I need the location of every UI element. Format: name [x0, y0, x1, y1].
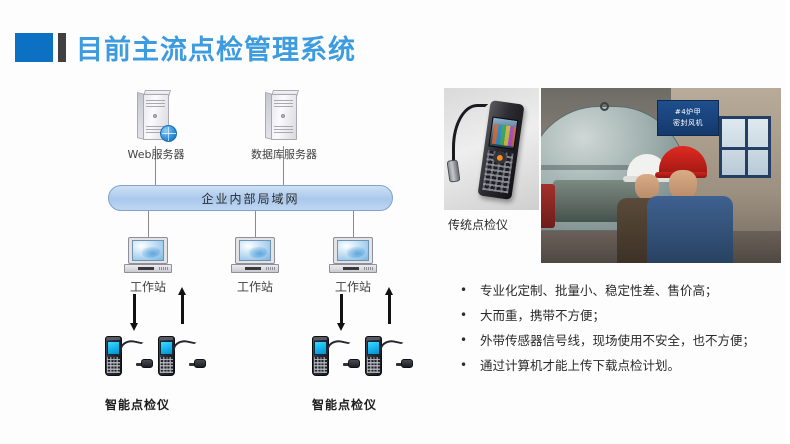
sensor-probe-1 [120, 340, 154, 370]
site-sign-line-1: #4炉甲 [675, 107, 701, 118]
bullet-item-1: 专业化定制、批量小、稳定性差、售价高； [452, 283, 782, 299]
site-red-equipment [541, 184, 555, 228]
slide-title-bar: 目前主流点检管理系统 [0, 30, 790, 72]
arrow-download-left [133, 294, 136, 324]
workstation-icon-3 [329, 237, 377, 273]
title-tick-bar [58, 33, 66, 62]
workstation-label-1: 工作站 [118, 278, 178, 295]
lan-label: 企业内部局域网 [201, 190, 299, 207]
sensor-probe-3 [327, 340, 361, 370]
arrow-download-right [340, 294, 343, 324]
bullet-item-2: 大而重，携带不方便； [452, 308, 782, 324]
site-sign-line-2: 密封风机 [673, 118, 703, 129]
lan-bar: 企业内部局域网 [108, 185, 393, 211]
web-server-label: Web服务器 [110, 146, 202, 162]
database-server-label: 数据库服务器 [228, 146, 340, 162]
page-title: 目前主流点检管理系统 [76, 28, 356, 67]
bullet-item-3: 外带传感器信号线，现场使用不安全，也不方便； [452, 333, 782, 349]
inspection-site-photo: #4炉甲 密封风机 [541, 88, 781, 263]
legacy-device-photo [444, 88, 539, 210]
database-server-icon [265, 90, 301, 142]
arrow-upload-left [181, 294, 184, 324]
architecture-diagram: Web服务器 数据库服务器 企业内部局域网 工作站 [0, 78, 440, 418]
workstation-label-2: 工作站 [225, 278, 285, 295]
workstation-label-3: 工作站 [323, 278, 383, 295]
bullet-item-4: 通过计算机才能上传下载点检计划。 [452, 358, 782, 374]
connector-lan-ws2 [255, 211, 256, 239]
workstation-icon-2 [231, 237, 279, 273]
smart-pda-label-left: 智能点检仪 [105, 396, 170, 413]
sensor-probe-4 [380, 340, 414, 370]
connector-lan-ws1 [148, 211, 149, 239]
workstation-icon-1 [124, 237, 172, 273]
web-server-icon [137, 90, 173, 142]
smart-pda-label-right: 智能点检仪 [312, 396, 377, 413]
globe-icon [160, 125, 177, 142]
slide-canvas: 目前主流点检管理系统 Web服务器 [0, 0, 790, 444]
arrow-upload-right [388, 294, 391, 324]
slide-right-margin [785, 0, 790, 444]
issue-bullet-list: 专业化定制、批量小、稳定性差、售价高； 大而重，携带不方便； 外带传感器信号线，… [452, 283, 782, 383]
legacy-device-caption: 传统点检仪 [448, 216, 508, 233]
device-screen [488, 117, 518, 150]
site-equipment-sign: #4炉甲 密封风机 [657, 100, 719, 136]
connector-lan-ws3 [353, 211, 354, 239]
sensor-probe-2 [173, 340, 207, 370]
title-accent-block [15, 33, 53, 62]
site-window [719, 116, 771, 178]
